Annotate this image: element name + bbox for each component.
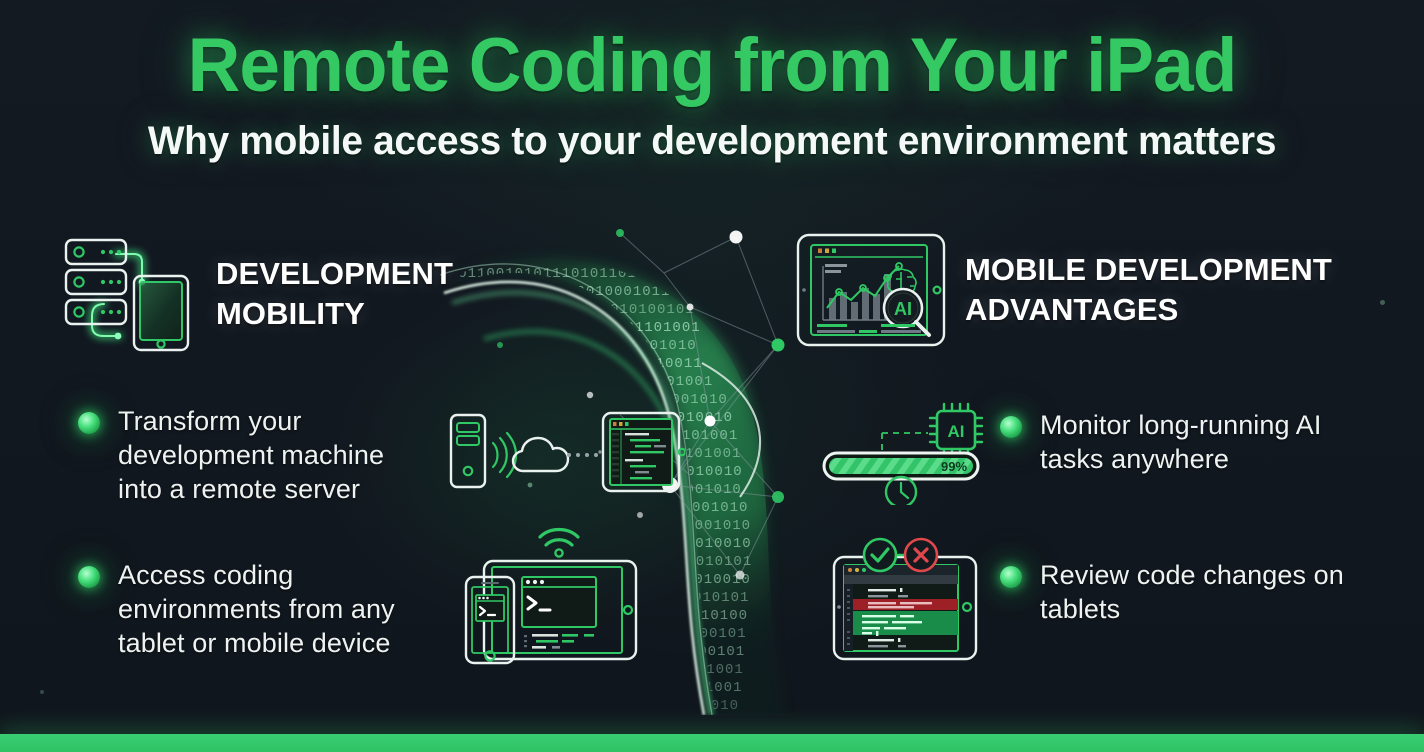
page-title: Remote Coding from Your iPad bbox=[28, 26, 1395, 105]
bullet-dot-icon bbox=[1000, 566, 1022, 588]
section-title-mobile-development-advantages: MOBILE DEVELOPMENT ADVANTAGES bbox=[965, 250, 1332, 329]
bullet-text: Review code changes on tablets bbox=[1040, 558, 1344, 626]
bullet-review-code: Review code changes on tablets bbox=[1000, 558, 1392, 626]
bullet-text: Access coding environments from any tabl… bbox=[118, 558, 395, 660]
svg-text:01101100101011101011010110010: 01101100101011101011010110010 bbox=[440, 266, 703, 282]
code-review-diff-tablet bbox=[828, 535, 988, 663]
svg-text:AI: AI bbox=[894, 299, 912, 319]
ai-analytics-tablet-icon: AI bbox=[795, 232, 947, 348]
page-subtitle: Why mobile access to your development en… bbox=[21, 119, 1402, 164]
svg-text:0101001: 0101001 bbox=[678, 662, 744, 678]
svg-text:0101010010100101010010101001: 0101010010100101010010101001 bbox=[450, 374, 713, 390]
svg-text:010100101: 010100101 bbox=[662, 626, 747, 642]
server-to-tablet-icon bbox=[58, 232, 198, 356]
section-mobile-development-advantages: AI MOBILE DEVELOPMENT ADVANTAGES bbox=[795, 232, 1332, 348]
footer-accent-bar bbox=[0, 734, 1424, 752]
header: Remote Coding from Your iPad Why mobile … bbox=[0, 26, 1424, 164]
svg-text:01010010100010101101010100101: 01010010100010101101010100101 bbox=[440, 302, 695, 318]
svg-text:11010101010101010101001010011: 11010101010101010101001010011 bbox=[440, 356, 703, 372]
infographic-canvas: 1011 01101100101011101011010110010 10101… bbox=[0, 0, 1424, 752]
svg-text:01010: 01010 bbox=[692, 698, 739, 714]
svg-text:1010010100: 1010010100 bbox=[654, 608, 748, 624]
bullet-transform-machine: Transform your development machine into … bbox=[78, 404, 478, 506]
svg-text:01000110101100101001010001010: 01000110101100101001010001010 bbox=[440, 338, 697, 354]
section-title-development-mobility: DEVELOPMENT MOBILITY bbox=[216, 254, 453, 333]
progress-percent-label: 99% bbox=[941, 459, 967, 474]
bullet-dot-icon bbox=[78, 566, 100, 588]
svg-text:10100101: 10100101 bbox=[670, 644, 745, 660]
ai-task-progress-widget: AI 99% bbox=[820, 395, 1000, 505]
bullet-text: Monitor long-running AI tasks anywhere bbox=[1040, 408, 1321, 476]
approve-check-icon bbox=[864, 539, 896, 571]
svg-text:01010100101001100110801101001: 01010100101001100110801101001 bbox=[440, 320, 701, 336]
svg-text:101001: 101001 bbox=[686, 680, 742, 696]
ai-chip-label: AI bbox=[948, 422, 965, 441]
ambient-dot bbox=[40, 690, 44, 694]
section-development-mobility: DEVELOPMENT MOBILITY bbox=[58, 232, 453, 356]
bullet-monitor-ai-tasks: Monitor long-running AI tasks anywhere bbox=[1000, 408, 1392, 476]
ambient-dot bbox=[1380, 300, 1385, 305]
bullet-dot-icon bbox=[1000, 416, 1022, 438]
bullet-access-environments: Access coding environments from any tabl… bbox=[78, 558, 478, 660]
server-cloud-tablet-diagram bbox=[445, 405, 685, 505]
bullet-dot-icon bbox=[78, 412, 100, 434]
phone-tablet-terminal-diagram bbox=[462, 515, 648, 667]
bullet-text: Transform your development machine into … bbox=[118, 404, 384, 506]
